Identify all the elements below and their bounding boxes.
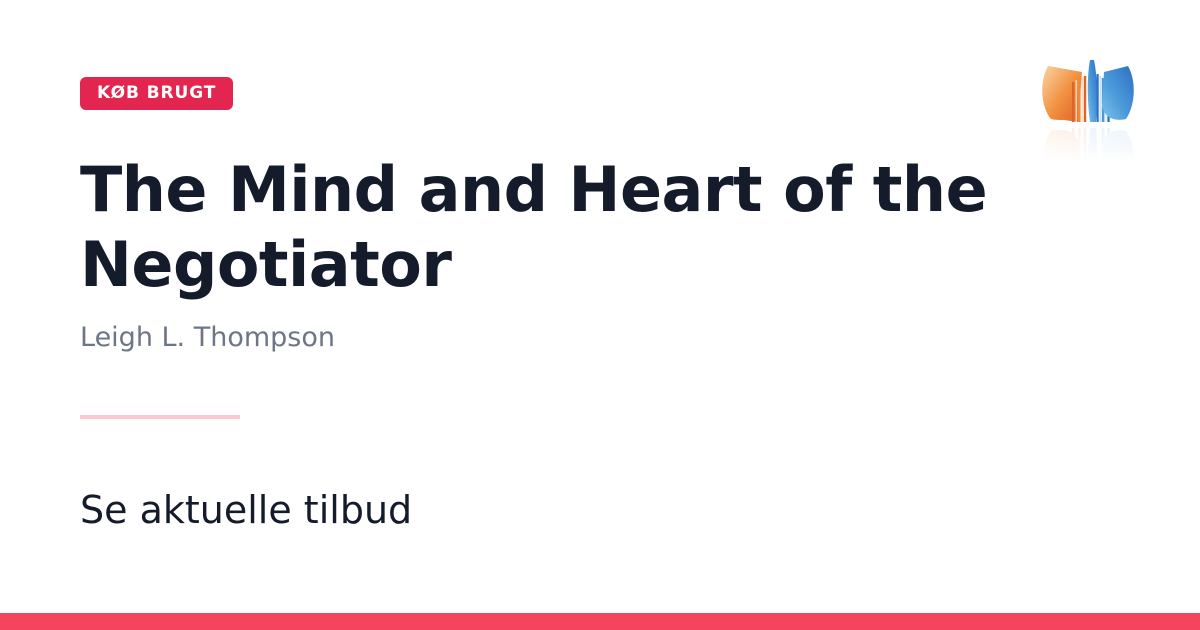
status-badge-label: KØB BRUGT bbox=[97, 85, 216, 102]
page-title: The Mind and Heart of the Negotiator bbox=[80, 152, 1020, 302]
butterfly-barcode-logo bbox=[1038, 52, 1138, 162]
divider bbox=[80, 415, 240, 419]
cta-label[interactable]: Se aktuelle tilbud bbox=[80, 484, 412, 536]
share-card: KØB BRUGT bbox=[0, 0, 1200, 630]
book-author: Leigh L. Thompson bbox=[80, 320, 335, 356]
accent-bottom-bar bbox=[0, 613, 1200, 630]
status-badge: KØB BRUGT bbox=[80, 77, 233, 110]
